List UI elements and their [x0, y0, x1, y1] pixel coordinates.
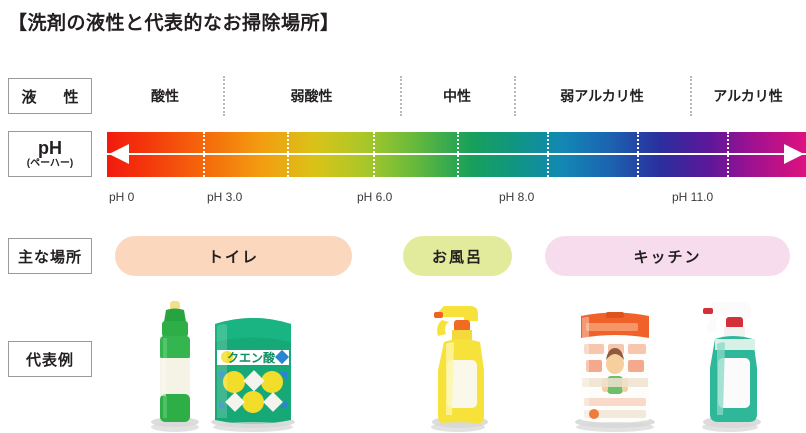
category-separator-3 — [690, 76, 692, 116]
place-pill-row: トイレお風呂キッチン — [107, 236, 806, 276]
ph-tick-0: pH 0 — [109, 190, 134, 204]
arrow-left-icon — [109, 144, 129, 164]
product-citric-acid-pouch: クエン酸 — [207, 310, 299, 428]
place-pill-label: お風呂 — [432, 246, 483, 267]
alkaline-spray-bottle-icon — [692, 294, 768, 428]
row-label-example-text: 代表例 — [26, 349, 74, 370]
neutral-spray-bottle-icon — [422, 296, 494, 428]
place-pill-2[interactable]: キッチン — [545, 236, 790, 276]
category-label-4: アルカリ性 — [690, 72, 806, 120]
row-label-ph-main: pH — [38, 138, 62, 158]
category-label-1: 弱酸性 — [223, 72, 400, 120]
row-label-ph-sub: (ペーハー) — [27, 158, 73, 170]
product-shadow — [213, 422, 293, 432]
example-product-row: クエン酸 — [107, 288, 806, 432]
acid-cleaner-bottle-icon — [149, 300, 201, 428]
alkaline-powder-pouch-icon — [572, 306, 658, 428]
ph-scale-bar — [107, 132, 806, 177]
row-label-liquidity-text: 液 性 — [15, 86, 84, 107]
place-pill-label: キッチン — [633, 246, 701, 267]
category-label-0: 酸性 — [107, 72, 223, 120]
ph-tick-labels: pH 0pH 3.0pH 6.0pH 8.0pH 11.0 — [107, 190, 806, 208]
category-header-row: 酸性弱酸性中性弱アルカリ性アルカリ性 — [107, 72, 806, 120]
place-pill-0[interactable]: トイレ — [115, 236, 352, 276]
product-shadow — [151, 422, 199, 432]
product-neutral-spray-bottle — [422, 296, 494, 428]
category-label-2: 中性 — [400, 72, 514, 120]
row-label-example: 代表例 — [8, 341, 92, 377]
row-label-ph: pH (ペーハー) — [8, 131, 92, 177]
row-label-place-text: 主な場所 — [18, 246, 82, 267]
category-separator-1 — [400, 76, 402, 116]
svg-text:クエン酸: クエン酸 — [227, 350, 276, 365]
ph-tick-1: pH 3.0 — [207, 190, 242, 204]
product-shadow — [576, 422, 654, 432]
ph-tick-2: pH 6.0 — [357, 190, 392, 204]
ph-tick-4: pH 11.0 — [672, 190, 713, 204]
product-acid-cleaner-bottle — [149, 300, 201, 428]
citric-acid-pouch-icon: クエン酸 — [207, 310, 299, 428]
category-separator-0 — [223, 76, 225, 116]
category-separator-2 — [514, 76, 516, 116]
page-title: 【洗剤の液性と代表的なお掃除場所】 — [8, 8, 340, 35]
ph-tick-3: pH 8.0 — [499, 190, 534, 204]
product-alkaline-spray-bottle — [692, 294, 768, 428]
product-shadow — [431, 422, 485, 432]
ph-axis-line — [107, 153, 806, 155]
product-alkaline-powder-pouch — [572, 306, 658, 428]
place-pill-1[interactable]: お風呂 — [403, 236, 512, 276]
product-shadow — [702, 422, 758, 432]
row-label-place: 主な場所 — [8, 238, 92, 274]
arrow-right-icon — [784, 144, 804, 164]
category-label-3: 弱アルカリ性 — [514, 72, 690, 120]
place-pill-label: トイレ — [208, 246, 259, 267]
row-label-liquidity: 液 性 — [8, 78, 92, 114]
